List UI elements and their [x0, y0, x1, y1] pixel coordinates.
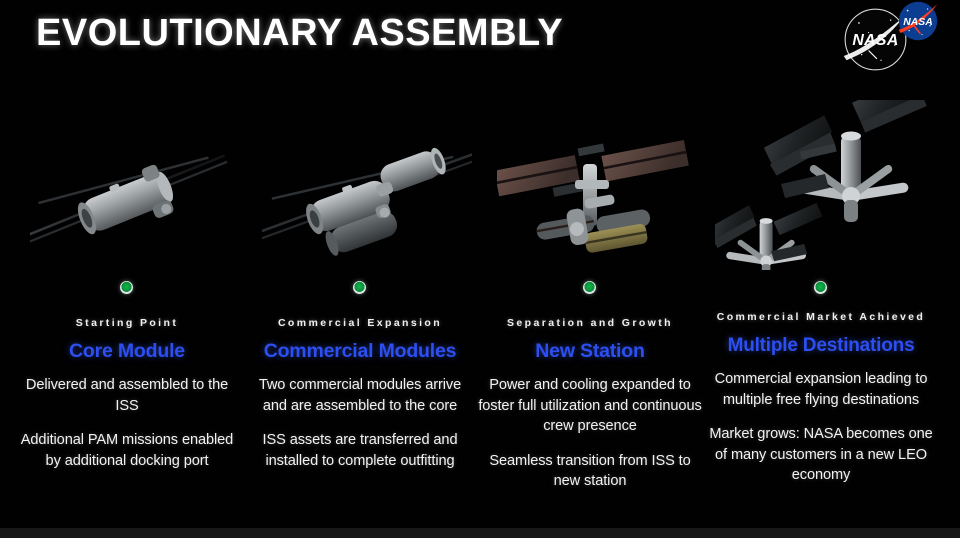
phase-column-core-module: Starting Point Core Module Delivered and… [14, 316, 240, 471]
phase-paragraph-1: Two commercial modules arrive and are as… [247, 375, 473, 416]
nasa-meatball-blue-logo: NASA [898, 1, 938, 41]
slide-canvas: EVOLUTIONARY ASSEMBLY NASA NASA [0, 0, 960, 538]
phase-paragraph-1: Delivered and assembled to the ISS [14, 375, 240, 416]
commercial-modules-spacecraft-graphic [262, 140, 472, 265]
milestone-dot-core-module[interactable] [120, 281, 133, 294]
page-title: EVOLUTIONARY ASSEMBLY [36, 12, 563, 55]
phase-paragraph-1: Commercial expansion leading to multiple… [708, 369, 934, 410]
phase-heading: Core Module [14, 340, 240, 363]
phase-eyebrow: Separation and Growth [477, 316, 703, 330]
milestone-dot-commercial-modules[interactable] [353, 281, 366, 294]
multiple-free-flyers-spacecraft-graphic [715, 100, 950, 270]
phase-eyebrow: Starting Point [14, 316, 240, 330]
core-module-spacecraft-graphic [30, 140, 230, 265]
milestone-dot-multiple-destinations[interactable] [814, 281, 827, 294]
phase-column-multiple-destinations: Commercial Market Achieved Multiple Dest… [708, 310, 934, 486]
phase-heading: Multiple Destinations [708, 334, 934, 357]
phase-column-new-station: Separation and Growth New Station Power … [477, 316, 703, 492]
phase-paragraph-1: Power and cooling expanded to foster ful… [477, 375, 703, 437]
phase-heading: New Station [477, 340, 703, 363]
phase-column-commercial-modules: Commercial Expansion Commercial Modules … [247, 316, 473, 471]
bottom-letterbox-strip [0, 528, 960, 538]
phase-paragraph-2: Seamless transition from ISS to new stat… [477, 451, 703, 492]
nasa-wordmark: NASA [852, 32, 898, 49]
new-station-spacecraft-graphic [497, 128, 692, 268]
phase-eyebrow: Commercial Expansion [247, 316, 473, 330]
phase-paragraph-2: Market grows: NASA becomes one of many c… [708, 424, 934, 486]
phase-eyebrow: Commercial Market Achieved [708, 310, 934, 324]
milestone-dot-new-station[interactable] [583, 281, 596, 294]
nasa-wordmark: NASA [903, 17, 932, 28]
phase-heading: Commercial Modules [247, 340, 473, 363]
phase-paragraph-2: ISS assets are transferred and installed… [247, 430, 473, 471]
phase-paragraph-2: Additional PAM missions enabled by addit… [14, 430, 240, 471]
